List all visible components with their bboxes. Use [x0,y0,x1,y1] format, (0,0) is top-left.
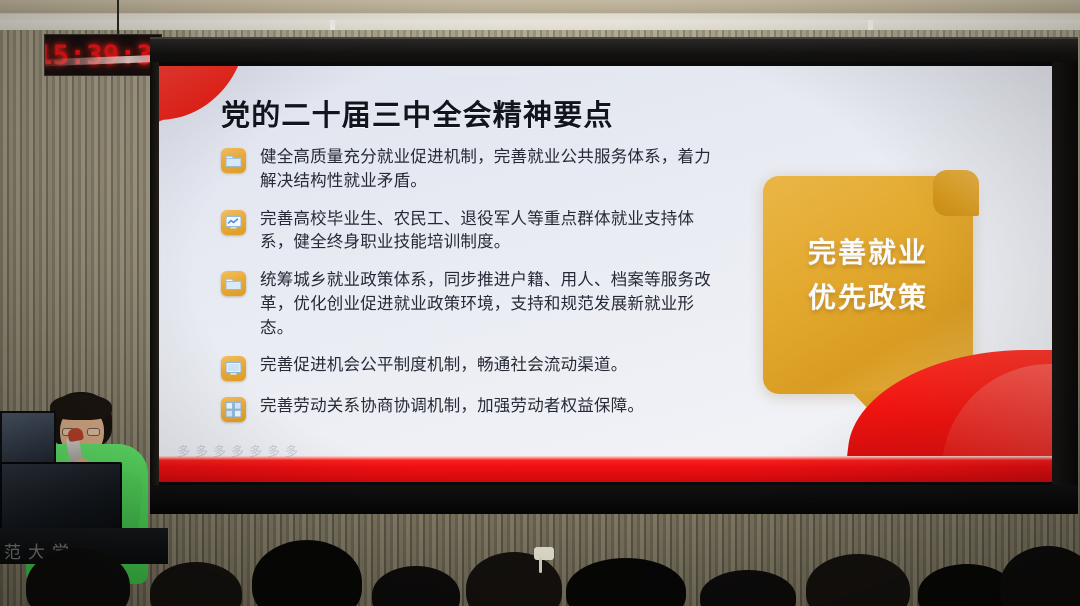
folder-icon [221,271,246,296]
audience-head [150,562,242,606]
screen-right-bezel [1052,62,1078,514]
callout-line-1: 完善就业 [763,230,973,275]
audience-head [252,540,362,606]
audience-head [26,548,130,606]
screen-bottom-bezel [150,485,1078,514]
bullet-text: 完善劳动关系协商协调机制，加强劳动者权益保障。 [260,395,644,419]
callout-folded-corner [933,170,979,216]
list-item: 完善高校毕业生、农民工、退役军人等重点群体就业支持体系，健全终身职业技能培训制度… [221,208,721,256]
monitor-chart-icon [221,210,246,235]
audience-head [1000,546,1080,606]
laptop-screen [0,411,56,469]
bullet-text: 健全高质量充分就业促进机制，完善就业公共服务体系，着力解决结构性就业矛盾。 [260,146,721,194]
hair-clip [534,547,554,560]
list-item: 完善劳动关系协商协调机制，加强劳动者权益保障。 [221,395,721,422]
slide-title: 党的二十届三中全会精神要点 [221,92,614,134]
gold-callout: 完善就业 优先政策 [763,176,973,394]
grid-window-icon [221,397,246,422]
audience-head [806,554,910,606]
audience-head [700,570,796,606]
audience-head [372,566,460,606]
callout-text: 完善就业 优先政策 [763,230,973,321]
list-item: 健全高质量充分就业促进机制，完善就业公共服务体系，着力解决结构性就业矛盾。 [221,146,721,194]
bullet-text: 完善高校毕业生、农民工、退役军人等重点群体就业支持体系，健全终身职业技能培训制度… [260,208,721,256]
list-item: 统筹城乡就业政策体系，同步推进户籍、用人、档案等服务改革，优化创业促进就业政策环… [221,269,721,340]
folder-icon [221,148,246,173]
clock-hanging-wire [117,0,119,38]
bullet-list: 健全高质量充分就业促进机制，完善就业公共服务体系，着力解决结构性就业矛盾。 完善… [221,146,721,436]
slide-watermark: 多多多多多多多 [177,441,303,460]
monitor-icon [221,356,246,381]
presenter-hair-fringe [50,394,112,420]
led-wall-clock: 15:39:33 [44,34,162,76]
list-item: 完善促进机会公平制度机制，畅通社会流动渠道。 [221,354,721,381]
bullet-text: 完善促进机会公平制度机制，畅通社会流动渠道。 [260,354,627,378]
bullet-text: 统筹城乡就业政策体系，同步推进户籍、用人、档案等服务改革，优化创业促进就业政策环… [260,269,721,340]
presentation-slide: 党的二十届三中全会精神要点 健全高质量充分就业促进机制，完善就业公共服务体系，着… [159,66,1052,482]
audience-row [0,514,1080,606]
presenter-glasses-right [87,428,100,436]
lecture-hall-photo: 15:39:33 党的二十届三中全会精神要点 健全高质量充分就业促进机制，完善就… [0,0,1080,606]
audience-head [466,552,562,606]
audience-head [566,558,686,606]
callout-line-2: 优先政策 [763,275,973,320]
